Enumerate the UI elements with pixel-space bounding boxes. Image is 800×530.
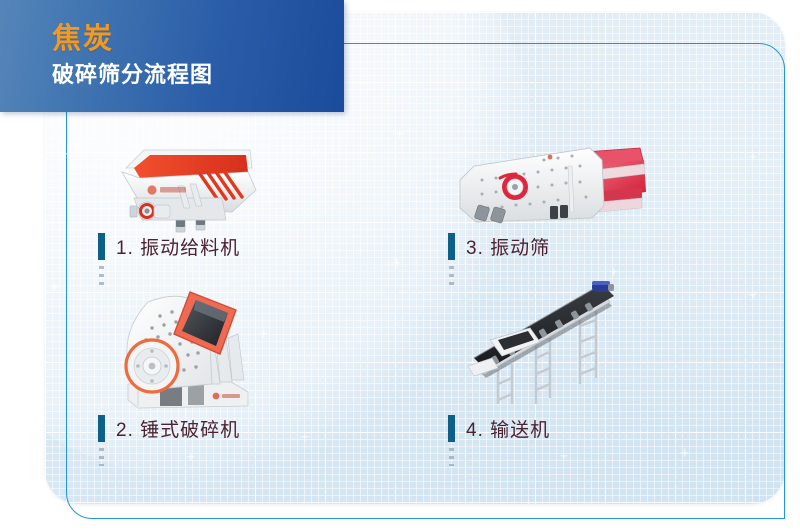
equipment-label-text: 2. 锤式破碎机 bbox=[116, 415, 240, 442]
label-dotted-line bbox=[99, 266, 104, 290]
label-dotted-line bbox=[449, 448, 454, 466]
page-subtitle: 破碎筛分流程图 bbox=[52, 60, 213, 90]
equipment-label-text: 1. 振动给料机 bbox=[116, 233, 240, 260]
label-accent-bar bbox=[448, 233, 455, 260]
page-title: 焦炭 bbox=[52, 22, 213, 56]
equipment-label-text: 3. 振动筛 bbox=[466, 233, 550, 260]
hammer-crusher-icon bbox=[108, 272, 268, 417]
vibrating-feeder-icon bbox=[100, 128, 270, 243]
equipment-label-text: 4. 输送机 bbox=[466, 415, 550, 442]
label-accent-bar bbox=[98, 233, 105, 260]
infographic-root: 1. 振动给料机 bbox=[0, 0, 800, 530]
vibrating-screen-icon bbox=[452, 130, 647, 240]
label-accent-bar bbox=[448, 415, 455, 442]
label-dotted-line bbox=[99, 448, 104, 466]
label-dotted-line bbox=[449, 266, 454, 290]
equipment-label-4: 4. 输送机 bbox=[448, 415, 550, 442]
belt-conveyor-icon bbox=[468, 280, 633, 410]
title-banner: 焦炭 破碎筛分流程图 bbox=[0, 0, 344, 112]
equipment-label-3: 3. 振动筛 bbox=[448, 233, 550, 260]
label-accent-bar bbox=[98, 415, 105, 442]
equipment-label-2: 2. 锤式破碎机 bbox=[98, 415, 240, 442]
equipment-label-1: 1. 振动给料机 bbox=[98, 233, 240, 260]
title-banner-text: 焦炭 破碎筛分流程图 bbox=[52, 22, 213, 90]
